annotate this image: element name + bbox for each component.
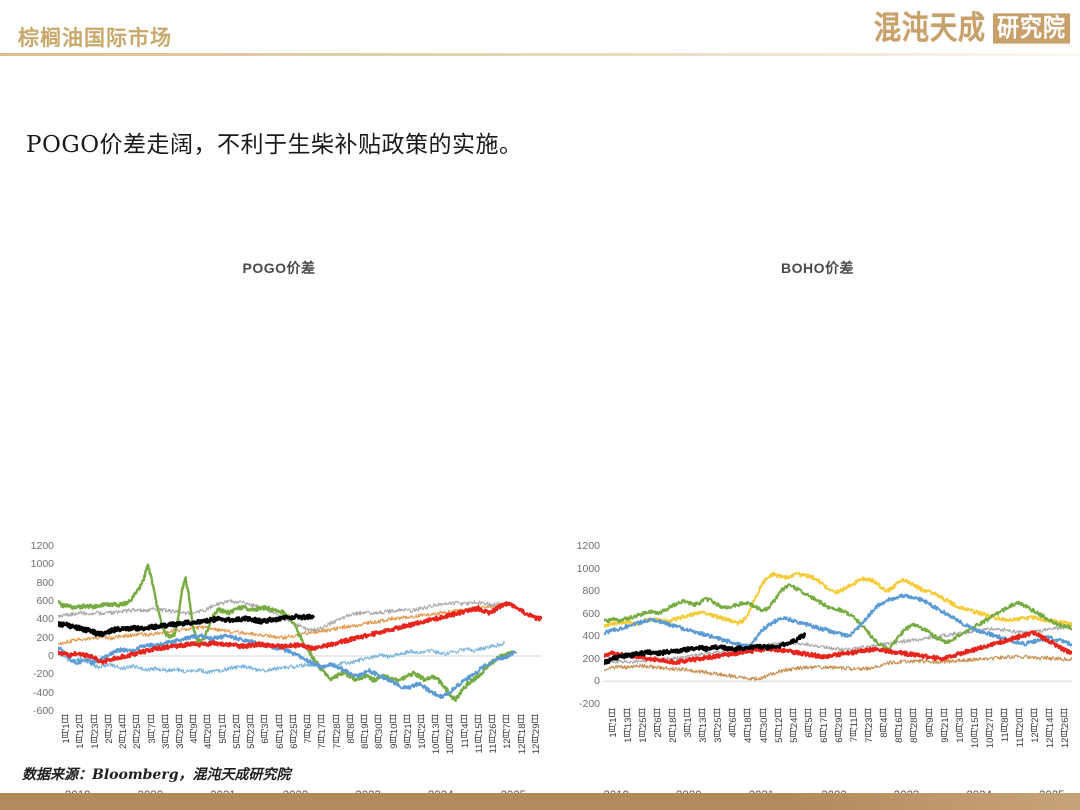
x-tick-label: 8月19日: [359, 714, 373, 749]
x-tick-label: 1月12日: [74, 714, 88, 749]
logo-institute-badge: 研究院: [993, 13, 1070, 43]
y-tick-label: -200: [579, 698, 600, 710]
logo-wordmark: 混沌天成: [874, 12, 986, 44]
x-tick-label: 8月16日: [893, 708, 907, 743]
page-title: 棕榈油国际市场: [18, 22, 172, 52]
series-line-2025: [58, 615, 313, 636]
x-tick-label: 11月15日: [473, 714, 487, 753]
x-tick-label: 6月29日: [833, 708, 847, 743]
x-tick-label: 10月24日: [444, 714, 458, 754]
x-tick-label: 4月20日: [202, 714, 216, 749]
y-tick-label: -600: [33, 705, 54, 717]
x-tick-label: 5月1日: [217, 714, 231, 744]
x-tick-label: 8月28日: [908, 708, 922, 743]
x-tick-label: 9月9日: [924, 708, 938, 738]
x-tick-label: 12月29日: [530, 714, 544, 754]
x-tick-label: 5月24日: [788, 708, 802, 743]
x-tick-label: 8月4日: [878, 708, 892, 738]
x-tick-label: 11月26日: [487, 714, 501, 753]
chart-boho-plot-area: [604, 546, 1072, 704]
y-tick-label: 200: [36, 632, 54, 644]
x-tick-label: 6月5日: [803, 708, 817, 738]
x-tick-label: 10月2日: [416, 714, 430, 749]
chart-lines: [604, 546, 1072, 704]
company-logo: 混沌天成 研究院: [874, 6, 1070, 50]
x-tick-label: 7月28日: [331, 714, 345, 749]
x-tick-label: 1月13日: [622, 708, 636, 743]
x-tick-label: 7月11日: [848, 708, 862, 742]
x-tick-label: 6月17日: [818, 708, 832, 743]
x-tick-label: 5月23日: [245, 714, 259, 749]
y-tick-label: 600: [36, 595, 54, 607]
x-tick-label: 7月23日: [863, 708, 877, 743]
x-tick-label: 9月21日: [402, 714, 416, 749]
x-tick-label: 11月4日: [459, 714, 473, 748]
series-line-2021: [604, 573, 1072, 627]
x-tick-label: 9月10日: [388, 714, 402, 749]
y-tick-label: -400: [33, 687, 54, 699]
x-tick-label: 3月13日: [697, 708, 711, 743]
footer-bar: [0, 793, 1080, 810]
x-tick-label: 3月7日: [146, 714, 160, 744]
x-tick-label: 11月20日: [1014, 708, 1028, 747]
y-tick-label: 200: [582, 653, 600, 665]
y-tick-label: 0: [48, 650, 54, 662]
chart-pogo-plot-area: [58, 546, 542, 711]
chart-pogo-y-axis: 120010008006004002000-200-400-600: [14, 546, 54, 711]
page-header: 棕榈油国际市场 混沌天成 研究院: [0, 0, 1080, 58]
x-tick-label: 9月21日: [939, 708, 953, 743]
x-tick-label: 3月29日: [174, 714, 188, 749]
y-tick-label: 400: [582, 630, 600, 642]
y-tick-label: 1200: [577, 540, 600, 552]
y-tick-label: -200: [33, 668, 54, 680]
x-tick-label: 1月25日: [637, 708, 651, 743]
y-tick-label: 1000: [31, 558, 54, 570]
x-tick-label: 6月25日: [288, 714, 302, 749]
x-tick-label: 3月1日: [682, 708, 696, 738]
x-tick-label: 6月14日: [274, 714, 288, 749]
x-tick-label: 2月6日: [652, 708, 666, 738]
x-tick-label: 10月3日: [954, 708, 968, 743]
x-tick-label: 10月15日: [969, 708, 983, 748]
x-tick-label: 2月18日: [667, 708, 681, 743]
x-tick-label: 8月8日: [345, 714, 359, 744]
x-tick-label: 12月7日: [501, 714, 515, 749]
x-tick-label: 12月2日: [1029, 708, 1043, 743]
x-tick-label: 2月14日: [117, 714, 131, 749]
x-tick-label: 4月9日: [188, 714, 202, 744]
x-tick-label: 3月25日: [712, 708, 726, 743]
chart-boho: BOHO价差 120010008006004002000-200 1月1日1月1…: [560, 258, 1075, 558]
y-tick-label: 1000: [577, 563, 600, 575]
x-tick-label: 3月18日: [160, 714, 174, 749]
x-tick-label: 5月12日: [231, 714, 245, 749]
series-line-2022: [58, 565, 512, 701]
x-tick-label: 5月12日: [773, 708, 787, 743]
x-tick-label: 10月27日: [984, 708, 998, 748]
x-tick-label: 1月1日: [607, 708, 621, 738]
x-tick-label: 10月13日: [430, 714, 444, 754]
y-tick-label: 0: [594, 675, 600, 687]
x-tick-label: 2月3日: [103, 714, 117, 744]
x-tick-label: 1月1日: [60, 714, 74, 744]
x-tick-label: 12月26日: [1059, 708, 1073, 748]
y-tick-label: 800: [582, 585, 600, 597]
x-tick-label: 4月30日: [758, 708, 772, 743]
x-tick-label: 7月17日: [316, 714, 330, 749]
chart-boho-title: BOHO价差: [560, 258, 1075, 278]
x-tick-label: 4月6日: [727, 708, 741, 738]
x-tick-label: 7月6日: [302, 714, 316, 744]
y-tick-label: 600: [582, 608, 600, 620]
chart-pogo: POGO价差 120010008006004002000-200-400-600…: [14, 258, 544, 558]
x-tick-label: 12月18日: [516, 714, 530, 754]
x-tick-label: 11月8日: [999, 708, 1013, 742]
x-tick-label: 6月3日: [259, 714, 273, 744]
y-tick-label: 400: [36, 613, 54, 625]
x-tick-label: 8月30日: [373, 714, 387, 749]
x-tick-label: 4月18日: [742, 708, 756, 743]
header-divider: [0, 53, 1080, 56]
chart-boho-x-axis: 1月1日1月13日1月25日2月6日2月18日3月1日3月13日3月25日4月6…: [604, 708, 1072, 782]
y-tick-label: 800: [36, 577, 54, 589]
slide-headline: POGO价差走阔，不利于生柴补贴政策的实施。: [26, 125, 523, 159]
chart-pogo-title: POGO价差: [14, 258, 544, 278]
x-tick-label: 12月14日: [1044, 708, 1058, 748]
chart-boho-y-axis: 120010008006004002000-200: [560, 546, 600, 704]
source-note: 数据来源：Bloomberg，混沌天成研究院: [22, 764, 291, 784]
y-tick-label: 1200: [31, 540, 54, 552]
chart-lines: [58, 546, 542, 711]
x-tick-label: 2月25日: [131, 714, 145, 749]
x-tick-label: 1月23日: [89, 714, 103, 749]
